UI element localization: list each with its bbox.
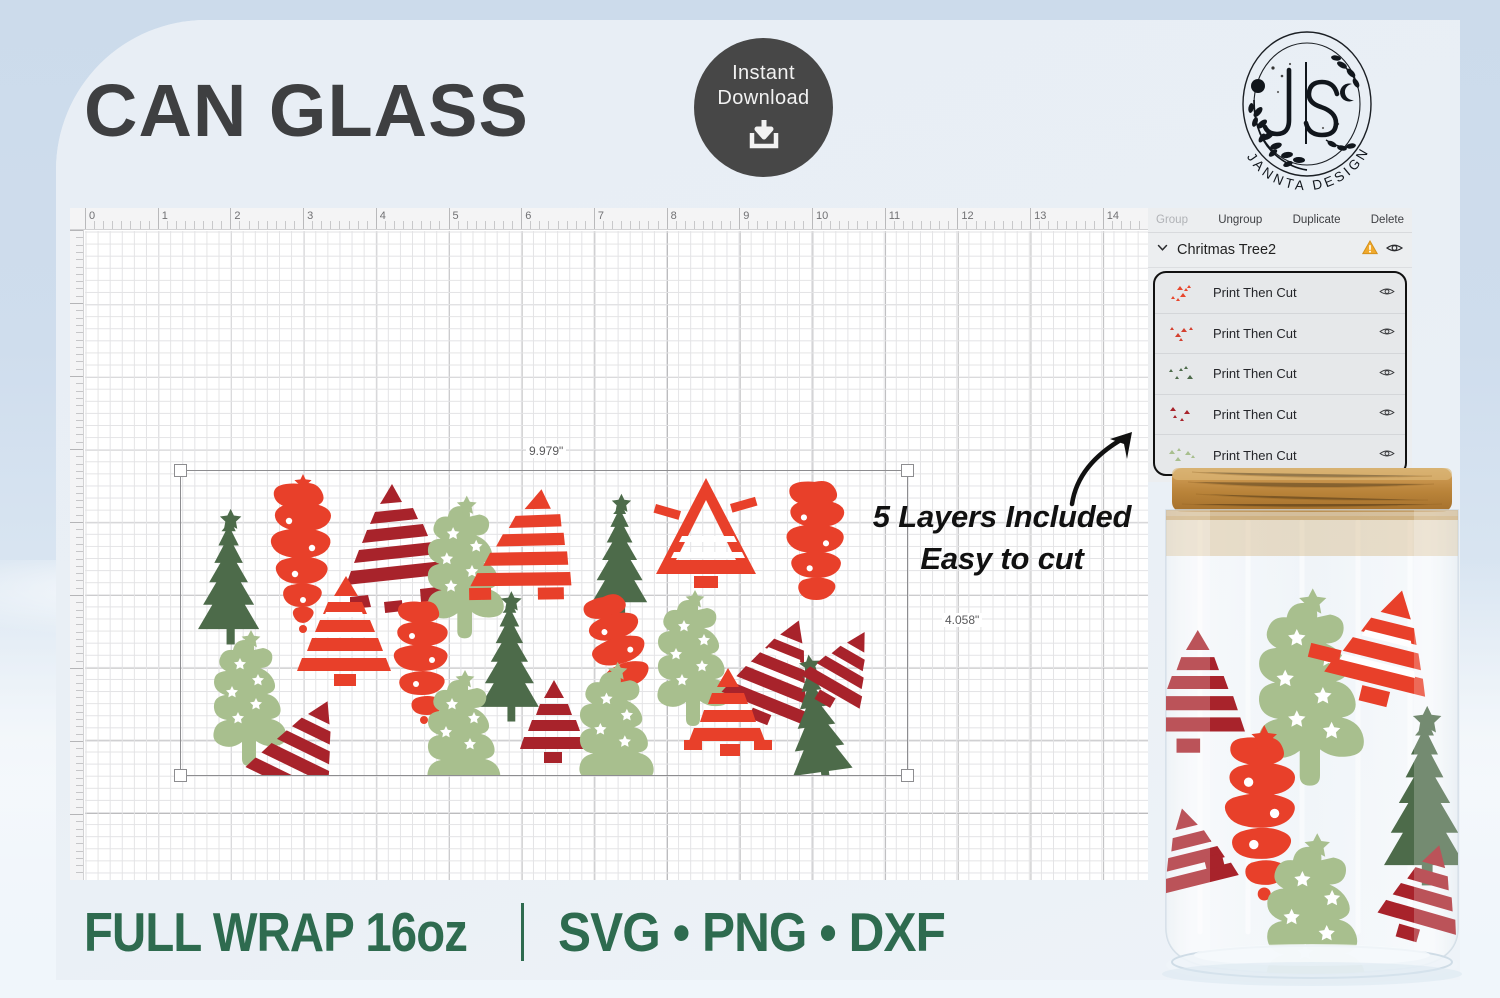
ruler-tick-minor bbox=[176, 221, 177, 230]
ruler-tick-minor bbox=[803, 221, 804, 230]
ruler-tick-minor bbox=[403, 221, 404, 230]
ruler-tick-minor bbox=[676, 221, 677, 230]
ruler-tick bbox=[76, 398, 83, 399]
ruler-tick-minor bbox=[621, 221, 622, 230]
ruler-tick-minor bbox=[1021, 221, 1022, 230]
ruler-tick-minor bbox=[394, 221, 395, 230]
ruler-tick bbox=[76, 493, 83, 494]
eye-icon[interactable] bbox=[1379, 284, 1395, 302]
ruler-tick bbox=[76, 653, 83, 654]
ruler-tick-minor bbox=[94, 221, 95, 230]
ruler-tick-major bbox=[376, 208, 377, 230]
ruler-tick-major bbox=[812, 208, 813, 230]
ruler-tick bbox=[76, 456, 83, 457]
ruler-tick bbox=[76, 486, 83, 487]
ruler-label: 12 bbox=[961, 210, 973, 222]
layer-name: Print Then Cut bbox=[1213, 326, 1369, 341]
ruler-tick-minor bbox=[321, 221, 322, 230]
layer-thumbnail bbox=[1169, 281, 1203, 305]
ruler-tick bbox=[76, 690, 83, 691]
ruler-tick bbox=[76, 821, 83, 822]
layer-name: Print Then Cut bbox=[1213, 366, 1369, 381]
ruler-tick-minor bbox=[258, 221, 259, 230]
ruler-tick bbox=[76, 420, 83, 421]
ruler-tick bbox=[76, 442, 83, 443]
ruler-tick-minor bbox=[149, 221, 150, 230]
ruler-tick bbox=[70, 376, 83, 377]
ruler-tick-minor bbox=[839, 221, 840, 230]
ruler-tick bbox=[76, 391, 83, 392]
ruler-tick-minor bbox=[267, 221, 268, 230]
ruler-tick bbox=[70, 303, 83, 304]
ruler-tick-minor bbox=[121, 221, 122, 230]
vertical-ruler bbox=[70, 230, 84, 880]
ruler-tick-minor bbox=[458, 221, 459, 230]
ruler-tick-minor bbox=[1012, 221, 1013, 230]
ruler-tick bbox=[76, 566, 83, 567]
ruler-tick bbox=[76, 434, 83, 435]
file-formats-label: SVG • PNG • DXF bbox=[558, 900, 945, 964]
ruler-tick-minor bbox=[558, 221, 559, 230]
ruler-tick-minor bbox=[857, 221, 858, 230]
ruler-tick-minor bbox=[785, 221, 786, 230]
layers-panel[interactable]: Group Ungroup Duplicate Delete Chritmas … bbox=[1148, 208, 1412, 482]
ruler-tick-minor bbox=[1121, 221, 1122, 230]
eye-icon[interactable] bbox=[1379, 405, 1395, 423]
layer-name: Print Then Cut bbox=[1213, 448, 1369, 463]
ruler-tick-minor bbox=[130, 221, 131, 230]
ruler-tick-minor bbox=[848, 221, 849, 230]
ruler-tick bbox=[76, 646, 83, 647]
ruler-tick-minor bbox=[203, 221, 204, 230]
instant-download-badge: Instant Download bbox=[694, 38, 833, 177]
annotation-line-1: 5 Layers Included bbox=[852, 496, 1152, 538]
ruler-tick-minor bbox=[112, 221, 113, 230]
ruler-tick bbox=[76, 785, 83, 786]
ruler-tick-minor bbox=[1130, 221, 1131, 230]
annotation-line-2: Easy to cut bbox=[852, 538, 1152, 580]
layer-group-name: Chritmas Tree2 bbox=[1177, 242, 1354, 258]
ruler-tick bbox=[76, 719, 83, 720]
ruler-tick bbox=[76, 529, 83, 530]
ruler-tick bbox=[76, 836, 83, 837]
ruler-tick-minor bbox=[939, 221, 940, 230]
ruler-tick-minor bbox=[694, 221, 695, 230]
ruler-tick bbox=[76, 763, 83, 764]
ruler-tick bbox=[76, 318, 83, 319]
layer-group-row[interactable]: Chritmas Tree2 bbox=[1148, 233, 1412, 268]
ruler-tick-minor bbox=[439, 221, 440, 230]
ruler-tick bbox=[76, 858, 83, 859]
curved-arrow-icon bbox=[1042, 400, 1162, 510]
ruler-tick bbox=[76, 843, 83, 844]
ruler-tick-minor bbox=[1057, 221, 1058, 230]
ruler-tick-minor bbox=[1003, 221, 1004, 230]
eye-icon[interactable] bbox=[1386, 241, 1403, 259]
ruler-tick-minor bbox=[748, 221, 749, 230]
ruler-tick-minor bbox=[685, 221, 686, 230]
ruler-tick-major bbox=[230, 208, 231, 230]
ruler-tick bbox=[76, 829, 83, 830]
ruler-tick-minor bbox=[285, 221, 286, 230]
ruler-tick bbox=[76, 624, 83, 625]
ruler-tick bbox=[76, 573, 83, 574]
ruler-tick-minor bbox=[476, 221, 477, 230]
ruler-tick bbox=[76, 632, 83, 633]
download-icon bbox=[745, 119, 783, 154]
warning-triangle-icon[interactable] bbox=[1362, 240, 1378, 260]
ruler-tick-minor bbox=[585, 221, 586, 230]
layer-list[interactable]: Print Then Cut Print Then Cut Print Then… bbox=[1153, 271, 1407, 476]
ruler-tick-minor bbox=[966, 221, 967, 230]
ruler-label: 13 bbox=[1034, 210, 1046, 222]
ruler-tick bbox=[76, 274, 83, 275]
delete-button[interactable]: Delete bbox=[1371, 214, 1404, 226]
ruler-tick bbox=[76, 770, 83, 771]
list-item[interactable]: Print Then Cut bbox=[1155, 273, 1405, 314]
ruler-tick bbox=[76, 347, 83, 348]
ruler-tick-major bbox=[957, 208, 958, 230]
ruler-tick-minor bbox=[294, 221, 295, 230]
ruler-tick-minor bbox=[721, 221, 722, 230]
can-glass-mockup bbox=[1152, 462, 1472, 992]
ruler-tick-minor bbox=[658, 221, 659, 230]
ruler-tick bbox=[76, 559, 83, 560]
ruler-tick bbox=[76, 537, 83, 538]
ruler-tick bbox=[76, 675, 83, 676]
ruler-tick-minor bbox=[239, 221, 240, 230]
ruler-tick-minor bbox=[757, 221, 758, 230]
ruler-tick-minor bbox=[1066, 221, 1067, 230]
ruler-tick-minor bbox=[1094, 221, 1095, 230]
ruler-tick bbox=[76, 464, 83, 465]
ruler-tick-major bbox=[885, 208, 886, 230]
ruler-tick-minor bbox=[567, 221, 568, 230]
ruler-tick-minor bbox=[830, 221, 831, 230]
ruler-tick bbox=[76, 726, 83, 727]
ruler-tick bbox=[76, 515, 83, 516]
ruler-tick bbox=[70, 668, 83, 669]
ruler-tick-minor bbox=[503, 221, 504, 230]
ruler-tick bbox=[76, 405, 83, 406]
layer-thumbnail bbox=[1169, 362, 1203, 386]
ruler-tick bbox=[76, 369, 83, 370]
ruler-tick bbox=[76, 296, 83, 297]
layer-name: Print Then Cut bbox=[1213, 285, 1369, 300]
ruler-tick-minor bbox=[358, 221, 359, 230]
ruler-tick-minor bbox=[430, 221, 431, 230]
ruler-tick-minor bbox=[985, 221, 986, 230]
page-title: CAN GLASS bbox=[84, 74, 529, 148]
brand-logo: JANNTA DESIGN CO bbox=[1218, 28, 1396, 196]
ruler-tick bbox=[76, 748, 83, 749]
ruler-tick-minor bbox=[894, 221, 895, 230]
ruler-tick bbox=[70, 595, 83, 596]
ruler-tick bbox=[70, 230, 83, 231]
ruler-tick bbox=[76, 427, 83, 428]
ruler-tick-major bbox=[594, 208, 595, 230]
ruler-tick bbox=[76, 252, 83, 253]
ruler-tick-minor bbox=[612, 221, 613, 230]
ruler-tick bbox=[70, 522, 83, 523]
ruler-tick bbox=[76, 792, 83, 793]
ruler-tick-minor bbox=[494, 221, 495, 230]
ruler-tick-minor bbox=[548, 221, 549, 230]
ungroup-button[interactable]: Ungroup bbox=[1218, 214, 1262, 226]
eye-icon[interactable] bbox=[1379, 365, 1395, 383]
ruler-tick bbox=[76, 478, 83, 479]
layer-thumbnail bbox=[1169, 321, 1203, 345]
ruler-tick-minor bbox=[421, 221, 422, 230]
ruler-tick-minor bbox=[512, 221, 513, 230]
ruler-tick bbox=[76, 639, 83, 640]
ruler-tick-minor bbox=[349, 221, 350, 230]
ruler-tick-minor bbox=[794, 221, 795, 230]
ruler-tick bbox=[76, 267, 83, 268]
layer-thumbnail bbox=[1169, 402, 1203, 426]
ruler-tick-minor bbox=[276, 221, 277, 230]
resize-handle-bottom-right[interactable] bbox=[901, 769, 914, 782]
ruler-tick bbox=[76, 471, 83, 472]
ruler-tick-minor bbox=[339, 221, 340, 230]
ruler-tick bbox=[76, 661, 83, 662]
ruler-tick-minor bbox=[1112, 221, 1113, 230]
badge-line-1: Instant bbox=[732, 61, 795, 86]
resize-handle-top-right[interactable] bbox=[901, 464, 914, 477]
ruler-tick-major bbox=[85, 208, 86, 230]
ruler-tick-minor bbox=[767, 221, 768, 230]
ruler-tick-minor bbox=[249, 221, 250, 230]
ruler-tick-minor bbox=[385, 221, 386, 230]
ruler-tick bbox=[76, 245, 83, 246]
ruler-tick-minor bbox=[948, 221, 949, 230]
ruler-tick-minor bbox=[412, 221, 413, 230]
ruler-tick bbox=[76, 281, 83, 282]
ruler-tick bbox=[76, 310, 83, 311]
layers-annotation: 5 Layers Included Easy to cut bbox=[852, 496, 1152, 580]
ruler-tick-minor bbox=[821, 221, 822, 230]
ruler-tick-major bbox=[1030, 208, 1031, 230]
ruler-tick bbox=[76, 799, 83, 800]
ruler-tick-major bbox=[667, 208, 668, 230]
wrap-size-label: FULL WRAP 16oz bbox=[84, 900, 467, 964]
ruler-tick bbox=[76, 383, 83, 384]
ruler-tick bbox=[76, 872, 83, 873]
ruler-tick-minor bbox=[639, 221, 640, 230]
ruler-tick-minor bbox=[1039, 221, 1040, 230]
ruler-tick-minor bbox=[976, 221, 977, 230]
ruler-tick bbox=[76, 705, 83, 706]
ruler-tick bbox=[76, 551, 83, 552]
ruler-tick-minor bbox=[730, 221, 731, 230]
ruler-tick-minor bbox=[185, 221, 186, 230]
ruler-tick-major bbox=[521, 208, 522, 230]
ruler-tick-minor bbox=[994, 221, 995, 230]
ruler-tick bbox=[76, 712, 83, 713]
resize-handle-bottom-left[interactable] bbox=[174, 769, 187, 782]
ruler-tick-minor bbox=[921, 221, 922, 230]
ruler-tick bbox=[76, 259, 83, 260]
ruler-tick-minor bbox=[367, 221, 368, 230]
selection-bounds[interactable] bbox=[180, 470, 908, 776]
width-dimension-label: 9.979" bbox=[526, 444, 566, 458]
ruler-tick-minor bbox=[530, 221, 531, 230]
list-item[interactable]: Print Then Cut bbox=[1155, 395, 1405, 436]
ruler-tick bbox=[70, 741, 83, 742]
ruler-tick-major bbox=[739, 208, 740, 230]
eye-icon[interactable] bbox=[1379, 324, 1395, 342]
ruler-tick-minor bbox=[312, 221, 313, 230]
ruler-tick bbox=[76, 602, 83, 603]
height-dimension-label: 4.058" bbox=[942, 613, 982, 627]
ruler-tick-minor bbox=[194, 221, 195, 230]
ruler-tick-minor bbox=[1139, 221, 1140, 230]
ruler-tick-minor bbox=[912, 221, 913, 230]
group-button[interactable]: Group bbox=[1156, 214, 1188, 226]
duplicate-button[interactable]: Duplicate bbox=[1293, 214, 1341, 226]
ruler-tick-minor bbox=[221, 221, 222, 230]
ruler-tick-minor bbox=[539, 221, 540, 230]
ruler-tick bbox=[76, 697, 83, 698]
list-item[interactable]: Print Then Cut bbox=[1155, 314, 1405, 355]
ruler-tick-major bbox=[449, 208, 450, 230]
ruler-tick bbox=[76, 865, 83, 866]
ruler-tick-minor bbox=[167, 221, 168, 230]
list-item[interactable]: Print Then Cut bbox=[1155, 354, 1405, 395]
ruler-tick-minor bbox=[776, 221, 777, 230]
ruler-tick bbox=[76, 237, 83, 238]
chevron-down-icon[interactable] bbox=[1156, 241, 1169, 259]
footer: FULL WRAP 16oz SVG • PNG • DXF bbox=[84, 898, 988, 966]
ruler-tick bbox=[70, 449, 83, 450]
ruler-tick bbox=[76, 734, 83, 735]
ruler-tick-major bbox=[1103, 208, 1104, 230]
ruler-tick bbox=[76, 580, 83, 581]
ruler-tick-minor bbox=[1048, 221, 1049, 230]
ruler-tick bbox=[76, 340, 83, 341]
ruler-tick-minor bbox=[1076, 221, 1077, 230]
ruler-tick-minor bbox=[603, 221, 604, 230]
ruler-tick-minor bbox=[140, 221, 141, 230]
ruler-tick bbox=[76, 851, 83, 852]
ruler-label: 14 bbox=[1107, 210, 1119, 222]
ruler-tick bbox=[76, 778, 83, 779]
ruler-tick bbox=[76, 683, 83, 684]
horizontal-ruler: 01234567891011121314 bbox=[70, 208, 1148, 230]
ruler-tick bbox=[76, 756, 83, 757]
ruler-tick-minor bbox=[485, 221, 486, 230]
layers-toolbar: Group Ungroup Duplicate Delete bbox=[1148, 208, 1412, 233]
ruler-tick bbox=[76, 500, 83, 501]
ruler-tick bbox=[76, 332, 83, 333]
ruler-tick bbox=[76, 354, 83, 355]
ruler-label: 10 bbox=[816, 210, 828, 222]
ruler-tick-minor bbox=[576, 221, 577, 230]
ruler-tick-major bbox=[303, 208, 304, 230]
ruler-tick-minor bbox=[903, 221, 904, 230]
ruler-tick-minor bbox=[867, 221, 868, 230]
footer-divider bbox=[521, 903, 524, 961]
ruler-tick bbox=[76, 325, 83, 326]
ruler-tick-minor bbox=[467, 221, 468, 230]
ruler-tick-minor bbox=[930, 221, 931, 230]
ruler-tick bbox=[76, 588, 83, 589]
ruler-tick bbox=[76, 361, 83, 362]
resize-handle-top-left[interactable] bbox=[174, 464, 187, 477]
ruler-tick bbox=[76, 544, 83, 545]
ruler-tick-minor bbox=[212, 221, 213, 230]
ruler-tick bbox=[76, 617, 83, 618]
ruler-tick-minor bbox=[630, 221, 631, 230]
ruler-tick bbox=[76, 507, 83, 508]
ruler-tick-minor bbox=[330, 221, 331, 230]
ruler-tick-minor bbox=[103, 221, 104, 230]
ruler-tick-minor bbox=[876, 221, 877, 230]
ruler-tick-minor bbox=[712, 221, 713, 230]
ruler-tick bbox=[76, 413, 83, 414]
ruler-tick-major bbox=[158, 208, 159, 230]
ruler-tick-minor bbox=[648, 221, 649, 230]
ruler-tick bbox=[76, 610, 83, 611]
ruler-tick-minor bbox=[703, 221, 704, 230]
layer-name: Print Then Cut bbox=[1213, 407, 1369, 422]
badge-line-2: Download bbox=[717, 86, 809, 111]
ruler-tick bbox=[76, 288, 83, 289]
ruler-tick bbox=[70, 814, 83, 815]
ruler-tick-minor bbox=[1085, 221, 1086, 230]
ruler-tick bbox=[76, 807, 83, 808]
